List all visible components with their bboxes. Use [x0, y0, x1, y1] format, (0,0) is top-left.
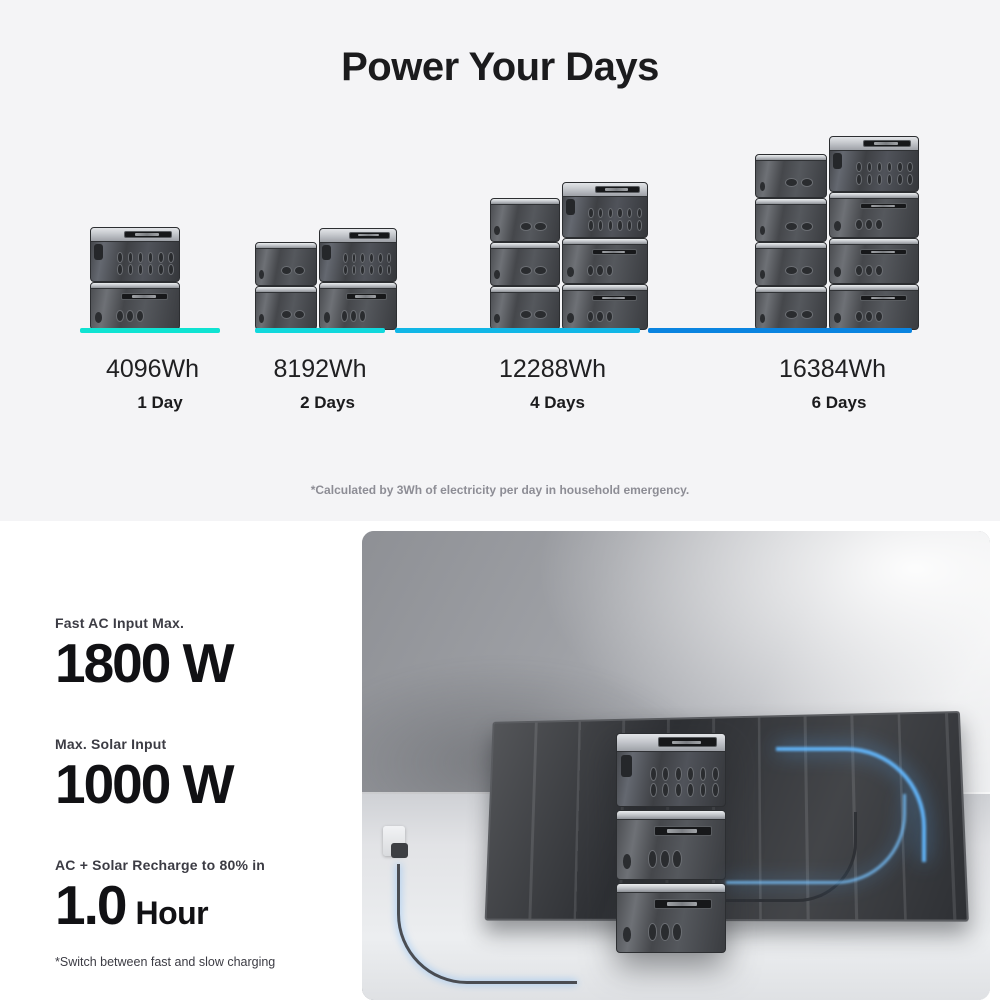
- days-label-4: 6 Days: [750, 393, 928, 413]
- expansion-battery-unit: [616, 810, 726, 880]
- spec-value: 1000 W: [55, 756, 233, 814]
- product-lifestyle-photo: [362, 531, 990, 1000]
- power-station-unit: [90, 227, 180, 282]
- spec-solar-input: Max. Solar Input 1000 W: [55, 736, 233, 814]
- capacity-section: Power Your Days: [0, 0, 1000, 521]
- spec-value: 1.0: [55, 874, 125, 936]
- expansion-battery-unit: [755, 154, 827, 198]
- expansion-battery-unit: [255, 286, 317, 330]
- product-feature-page: Power Your Days: [0, 0, 1000, 1000]
- expansion-battery-unit: [255, 242, 317, 286]
- capacity-footnote: *Calculated by 3Wh of electricity per da…: [0, 483, 1000, 497]
- capacity-label-3: 12288Wh: [470, 355, 635, 384]
- specs-footnote: *Switch between fast and slow charging: [55, 955, 275, 969]
- page-title: Power Your Days: [0, 45, 1000, 90]
- spec-value: 1800 W: [55, 635, 233, 693]
- battery-stack: [829, 136, 919, 330]
- spec-unit: Hour: [135, 895, 208, 931]
- days-label-1: 1 Day: [80, 393, 240, 413]
- days-label-3: 4 Days: [470, 393, 645, 413]
- expansion-battery-unit: [562, 284, 648, 330]
- product-art-4: [755, 136, 919, 330]
- expansion-battery-unit: [829, 192, 919, 238]
- battery-stack: [755, 154, 827, 330]
- capacity-bar-1: [80, 328, 220, 333]
- power-station-unit: [616, 733, 726, 807]
- spec-label: Fast AC Input Max.: [55, 615, 233, 631]
- battery-stack: [90, 227, 180, 330]
- expansion-battery-unit: [319, 282, 397, 330]
- spec-recharge-time: AC + Solar Recharge to 80% in 1.0Hour: [55, 857, 265, 935]
- capacity-label-4: 16384Wh: [750, 355, 915, 384]
- expansion-battery-unit: [829, 284, 919, 330]
- battery-stack: [562, 182, 648, 330]
- battery-stack: [319, 228, 397, 330]
- power-station-unit: [319, 228, 397, 282]
- expansion-battery-unit: [490, 286, 560, 330]
- capacity-label-2: 8192Wh: [250, 355, 390, 384]
- expansion-battery-unit: [755, 286, 827, 330]
- power-station-unit: [562, 182, 648, 238]
- expansion-battery-unit: [755, 198, 827, 242]
- expansion-battery-unit: [490, 198, 560, 242]
- capacity-bar-2: [255, 328, 385, 333]
- spec-label: AC + Solar Recharge to 80% in: [55, 857, 265, 873]
- product-art-3: [490, 182, 648, 330]
- capacity-label-1: 4096Wh: [80, 355, 225, 384]
- expansion-battery-unit: [829, 238, 919, 284]
- battery-stack: [255, 242, 317, 330]
- product-art-1: [90, 227, 180, 330]
- capacity-bar-3: [395, 328, 640, 333]
- expansion-battery-unit: [755, 242, 827, 286]
- spec-ac-input: Fast AC Input Max. 1800 W: [55, 615, 233, 693]
- product-art-2: [255, 228, 397, 330]
- battery-stack: [490, 198, 560, 330]
- days-label-2: 2 Days: [250, 393, 405, 413]
- power-plug-icon: [391, 843, 408, 858]
- expansion-battery-unit: [616, 883, 726, 953]
- power-station-stack: [616, 733, 726, 953]
- expansion-battery-unit: [490, 242, 560, 286]
- expansion-battery-unit: [90, 282, 180, 330]
- spec-label: Max. Solar Input: [55, 736, 233, 752]
- capacity-groups: 4096Wh 1 Day: [0, 140, 1000, 415]
- expansion-battery-unit: [562, 238, 648, 284]
- spec-value-row: 1.0Hour: [55, 877, 265, 935]
- capacity-bar-4: [648, 328, 912, 333]
- power-station-unit: [829, 136, 919, 192]
